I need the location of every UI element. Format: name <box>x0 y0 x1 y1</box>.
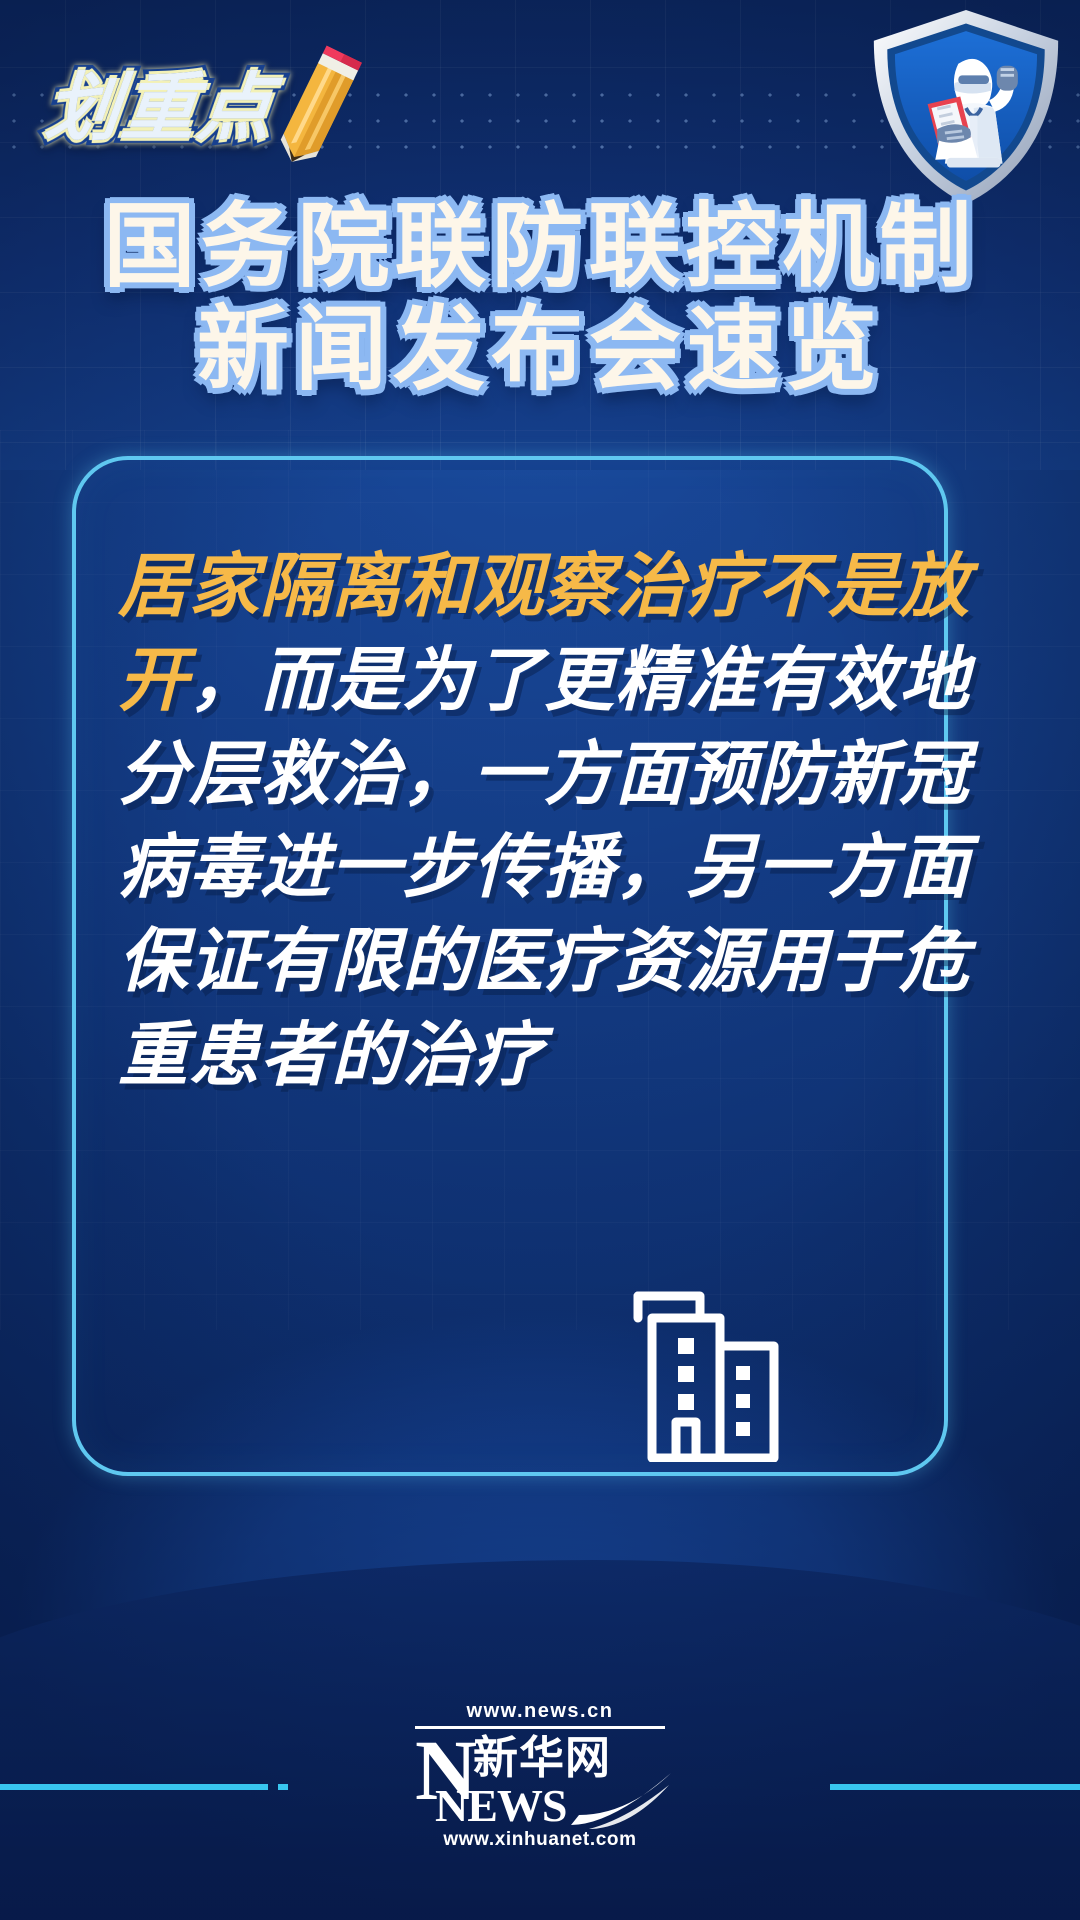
shield-medical-worker-icon <box>870 8 1062 206</box>
swoosh-icon <box>569 1771 673 1829</box>
kicker-label: 划重点 <box>42 71 278 145</box>
body-line-rest: 保证有限的医疗资源用于危 <box>118 922 970 1000</box>
body-line: 保证有限的医疗资源用于危 <box>118 915 908 1009</box>
body-line-highlight: 居家隔离和观察治疗不是放 <box>118 547 970 625</box>
kicker-badge: 划重点 <box>46 48 354 168</box>
logo-mark: N 新华网 NEWS <box>415 1733 665 1825</box>
body-line: 重患者的治疗 <box>118 1009 908 1103</box>
office-buildings-icon <box>608 1262 790 1462</box>
body-line: 开，而是为了更精准有效地 <box>118 634 908 728</box>
poster-canvas: 划重点 <box>0 0 1080 1920</box>
body-line: 居家隔离和观察治疗不是放 <box>118 540 908 634</box>
body-line-highlight: 开 <box>118 641 189 719</box>
body-copy: 居家隔离和观察治疗不是放 开，而是为了更精准有效地 分层救治，一方面预防新冠 病… <box>118 540 908 1103</box>
body-line: 病毒进一步传播，另一方面 <box>118 821 908 915</box>
body-line-rest: 重患者的治疗 <box>118 1016 544 1094</box>
page-title: 国务院联防联控机制 新闻发布会速览 <box>0 196 1080 402</box>
body-line-rest: 分层救治，一方面预防新冠 <box>118 735 970 813</box>
headline-line-2: 新闻发布会速览 <box>0 299 1080 402</box>
logo-word-news: NEWS <box>435 1783 566 1829</box>
body-line-rest: 病毒进一步传播，另一方面 <box>118 828 970 906</box>
headline-line-1: 国务院联防联控机制 <box>0 196 1080 299</box>
body-line: 分层救治，一方面预防新冠 <box>118 728 908 822</box>
body-line-rest: ，而是为了更精准有效地 <box>189 641 970 719</box>
xinhua-logo: www.news.cn N 新华网 NEWS www.xinhuanet.com <box>0 1700 1080 1851</box>
logo-bottom-url: www.xinhuanet.com <box>415 1829 665 1851</box>
